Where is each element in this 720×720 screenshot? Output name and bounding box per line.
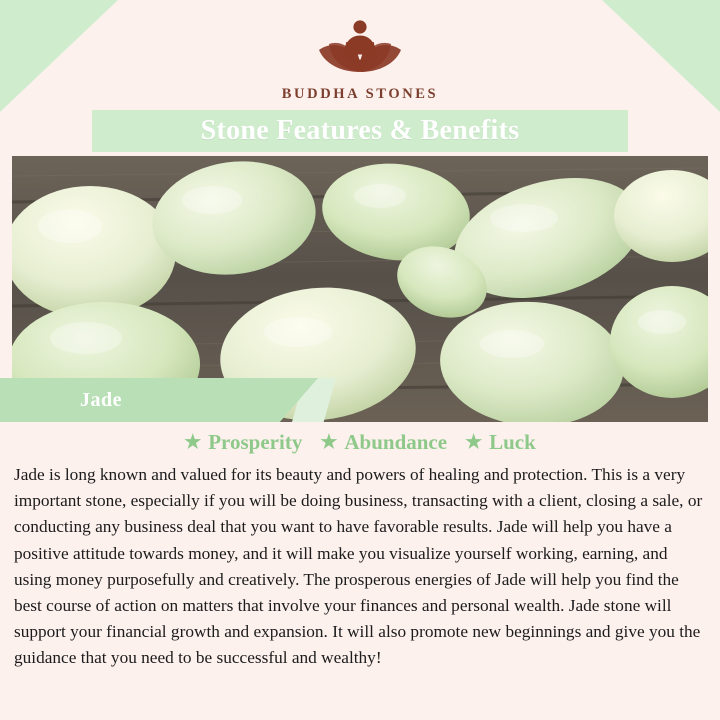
keyword-item-abundance: ★ Abundance xyxy=(320,430,447,455)
stone-name: Jade xyxy=(80,389,122,412)
page-title: Stone Features & Benefits xyxy=(201,115,520,147)
keyword-item-prosperity: ★ Prosperity xyxy=(184,430,302,455)
star-icon: ★ xyxy=(184,433,201,452)
section-title-band: Stone Features & Benefits xyxy=(92,110,628,152)
stone-description: Jade is long known and valued for its be… xyxy=(14,462,706,672)
stone-name-band: Jade xyxy=(0,378,318,422)
stone-info-card: BUDDHA STONES Stone Features & Benefits xyxy=(0,0,720,720)
keyword-list: ★ Prosperity ★ Abundance ★ Luck xyxy=(0,430,720,455)
keyword-label: Luck xyxy=(489,430,536,455)
keyword-label: Abundance xyxy=(344,430,447,455)
brand-name: BUDDHA STONES xyxy=(282,86,438,103)
keyword-label: Prosperity xyxy=(208,430,302,455)
star-icon: ★ xyxy=(320,433,337,452)
keyword-item-luck: ★ Luck xyxy=(465,430,536,455)
bottom-strip xyxy=(0,706,720,720)
lotus-meditation-figure-icon xyxy=(301,14,419,80)
star-icon: ★ xyxy=(465,433,482,452)
brand-logo-block: BUDDHA STONES xyxy=(0,14,720,103)
